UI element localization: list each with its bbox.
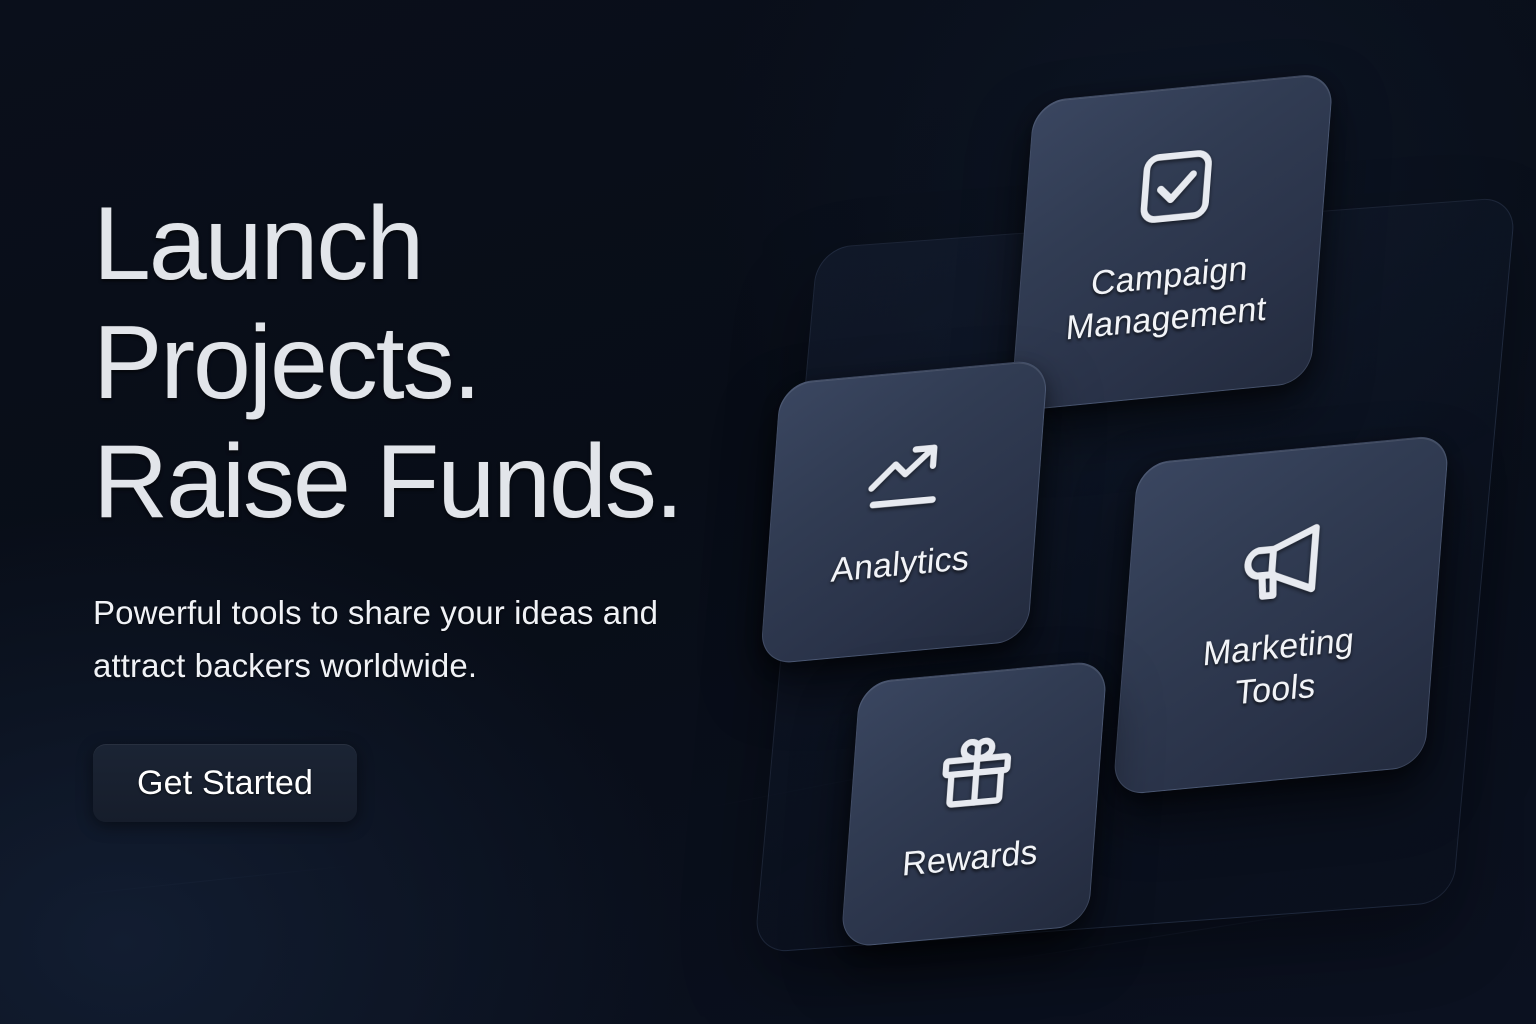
hero-subtitle: Powerful tools to share your ideas and a… <box>93 586 733 692</box>
megaphone-icon <box>1234 515 1336 609</box>
feature-card-campaign-management[interactable]: Campaign Management <box>1010 72 1334 412</box>
background-streak <box>61 864 359 896</box>
trending-up-icon <box>861 435 953 519</box>
feature-card-label: Analytics <box>830 537 971 592</box>
feature-card-marketing-tools[interactable]: Marketing Tools <box>1112 434 1449 796</box>
feature-card-rewards[interactable]: Rewards <box>840 660 1107 948</box>
feature-card-label: Rewards <box>901 831 1040 886</box>
hero-copy: Launch Projects. Raise Funds. Powerful t… <box>93 185 773 822</box>
feature-card-analytics[interactable]: Analytics <box>760 359 1049 665</box>
get-started-button[interactable]: Get Started <box>93 744 357 822</box>
feature-card-label: Marketing Tools <box>1198 619 1356 718</box>
hero-section: Launch Projects. Raise Funds. Powerful t… <box>0 0 1536 1024</box>
check-square-icon <box>1131 140 1221 233</box>
gift-icon <box>931 725 1021 817</box>
feature-card-cluster: Campaign Management Analytics <box>700 0 1536 1024</box>
feature-card-label: Campaign Management <box>1064 245 1271 349</box>
page-title: Launch Projects. Raise Funds. <box>93 185 773 542</box>
